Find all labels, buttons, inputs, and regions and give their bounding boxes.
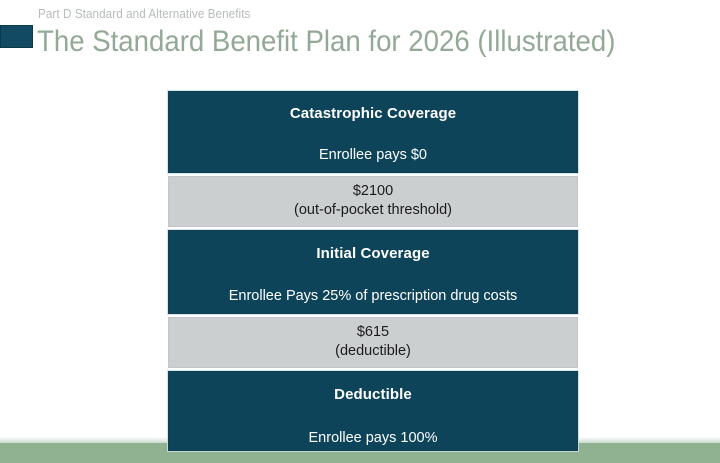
benefit-tier-initial-coverage: Initial Coverage Enrollee Pays 25% of pr… [168, 230, 578, 314]
benefit-tier-catastrophic-coverage: Catastrophic Coverage Enrollee pays $0 [168, 91, 578, 173]
tier-title-initial-coverage: Initial Coverage [169, 245, 577, 262]
tier-title-deductible: Deductible [169, 386, 577, 403]
tier-title-catastrophic: Catastrophic Coverage [169, 105, 577, 122]
page-title: The Standard Benefit Plan for 2026 (Illu… [37, 24, 615, 60]
benefit-tier-deductible: Deductible Enrollee pays 100% [168, 371, 578, 451]
benefit-phase-stack: Catastrophic Coverage Enrollee pays $0 $… [168, 91, 578, 451]
slide-header: Part D Standard and Alternative Benefits… [0, 0, 720, 90]
threshold-amount-out-of-pocket: $2100 [169, 183, 577, 199]
tier-detail-deductible: Enrollee pays 100% [169, 430, 577, 446]
tier-detail-initial-coverage: Enrollee Pays 25% of prescription drug c… [169, 288, 577, 304]
header-accent-bar [0, 25, 33, 48]
benefit-threshold-deductible: $615 (deductible) [168, 317, 578, 368]
breadcrumb-eyebrow: Part D Standard and Alternative Benefits [38, 7, 250, 21]
benefit-threshold-out-of-pocket: $2100 (out-of-pocket threshold) [168, 176, 578, 227]
threshold-label-out-of-pocket: (out-of-pocket threshold) [169, 202, 577, 218]
threshold-amount-deductible: $615 [169, 324, 577, 340]
tier-detail-catastrophic: Enrollee pays $0 [169, 147, 577, 163]
threshold-label-deductible: (deductible) [169, 343, 577, 359]
